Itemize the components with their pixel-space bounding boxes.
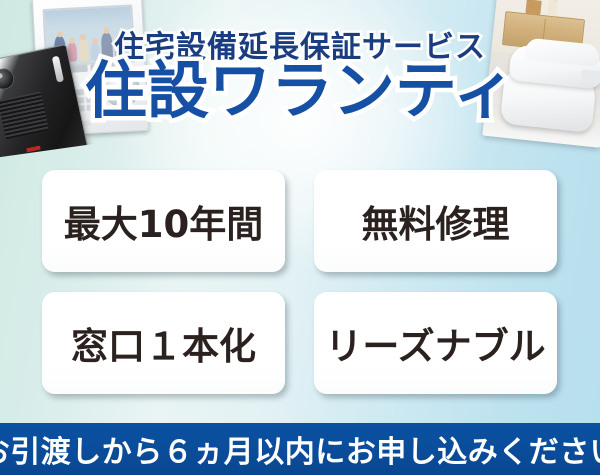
- service-title: 住設ワランティ: [0, 58, 600, 123]
- feature-label: 最大10年間: [64, 194, 264, 248]
- call-indicator: [26, 146, 41, 153]
- application-deadline-text: お引渡しから６ヵ月以内にお申し込みください: [0, 427, 600, 471]
- feature-box-reasonable: リーズナブル: [314, 292, 557, 394]
- feature-grid: 最大10年間 無料修理 窓口１本化 リーズナブル: [42, 170, 557, 394]
- feature-box-single-contact: 窓口１本化: [42, 292, 285, 394]
- feature-label: リーズナブル: [325, 316, 545, 370]
- feature-box-free-repair: 無料修理: [314, 170, 557, 272]
- feature-box-max-years: 最大10年間: [42, 170, 285, 272]
- storage-box: [525, 0, 541, 15]
- feature-label: 窓口１本化: [71, 316, 256, 370]
- application-deadline-banner: お引渡しから６ヵ月以内にお申し込みください: [0, 423, 600, 475]
- vase-decor: [547, 0, 558, 16]
- feature-label: 無料修理: [362, 194, 510, 248]
- promo-banner: 住宅設備延長保証サービス 住設ワランティ 最大10年間 無料修理 窓口１本化 リ…: [0, 0, 600, 475]
